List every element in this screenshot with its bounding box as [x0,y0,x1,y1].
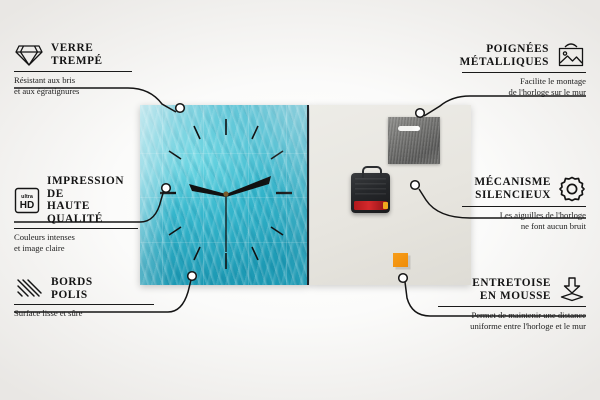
wall-frame-hook-icon [556,42,586,69]
feature-verre-trempe: VERRE TREMPÉ Résistant aux bris et aux é… [14,42,132,96]
diamond-icon [14,42,44,68]
feature-sub-line1: Surface lisse et sûre [14,308,154,318]
feature-divider [14,71,132,72]
feature-divider [462,72,586,73]
hanger-slot [398,126,420,131]
gear-icon [558,175,586,203]
glass-clock-face [140,105,309,285]
clock-dial [140,105,307,285]
feature-title-line1: POIGNÉES [460,43,549,56]
feature-title-line1: BORDS [51,276,93,289]
feature-entretoise-en-mousse: ENTRETOISE EN MOUSSE Permet de maintenir… [438,276,586,331]
feature-sub-line2: et image claire [14,243,138,253]
feature-sub-line1: Résistant aux bris [14,75,132,85]
ultra-hd-icon-large-text: HD [20,200,34,211]
mechanism-texture [355,178,386,195]
feature-title-line2: HAUTE QUALITÉ [47,200,138,225]
metal-hanger-plate [388,117,440,164]
feature-sub-line2: uniforme entre l'horloge et le mur [438,321,586,331]
clock-back-panel [310,105,471,285]
feature-sub-line1: Les aiguilles de l'horloge [462,210,586,220]
foam-spacer [393,253,408,267]
feature-title-line2: MÉTALLIQUES [460,56,549,69]
clock-mechanism [351,173,390,213]
feature-sub-line2: et aux égratignures [14,86,132,96]
battery-terminal [383,202,388,209]
feature-title-line2: EN MOUSSE [472,290,551,303]
feature-mecanisme-silencieux: MÉCANISME SILENCIEUX Les aiguilles de l'… [462,175,586,231]
feature-sub-line2: de l'horloge sur le mur [462,87,586,97]
infographic-canvas: VERRE TREMPÉ Résistant aux bris et aux é… [0,0,600,400]
feature-sub-line1: Couleurs intenses [14,232,138,242]
feature-title-line1: MÉCANISME [475,176,552,189]
feature-title-line1: VERRE [51,42,103,55]
feature-divider [438,306,586,307]
feature-title-line1: ENTRETOISE [472,277,551,290]
battery [354,201,387,210]
feature-bords-polis: BORDS POLIS Surface lisse et sûre [14,276,154,319]
feature-sub-line2: ne font aucun bruit [462,221,586,231]
feature-sub-line1: Facilite le montage [462,76,586,86]
feature-poignees-metalliques: POIGNÉES MÉTALLIQUES Facilite le montage… [462,42,586,97]
foam-spacer-arrow-icon [558,276,586,303]
feature-sub-line1: Permet de maintenir une distance [438,310,586,320]
clock-hand-minute [226,176,271,197]
mechanism-hanger-loop [362,166,382,178]
feature-title-line1: IMPRESSION DE [47,175,138,200]
feature-title-line2: POLIS [51,289,93,302]
feature-impression-haute-qualite: ultra HD IMPRESSION DE HAUTE QUALITÉ Cou… [14,175,138,253]
feature-title-line2: SILENCIEUX [475,189,552,202]
feature-divider [14,228,138,229]
feature-divider [14,304,154,305]
polished-edges-icon [14,277,44,301]
feature-divider [462,206,586,207]
ultra-hd-icon: ultra HD [14,187,40,214]
feature-title-line2: TREMPÉ [51,55,103,68]
clock-hand-hour [189,184,226,197]
